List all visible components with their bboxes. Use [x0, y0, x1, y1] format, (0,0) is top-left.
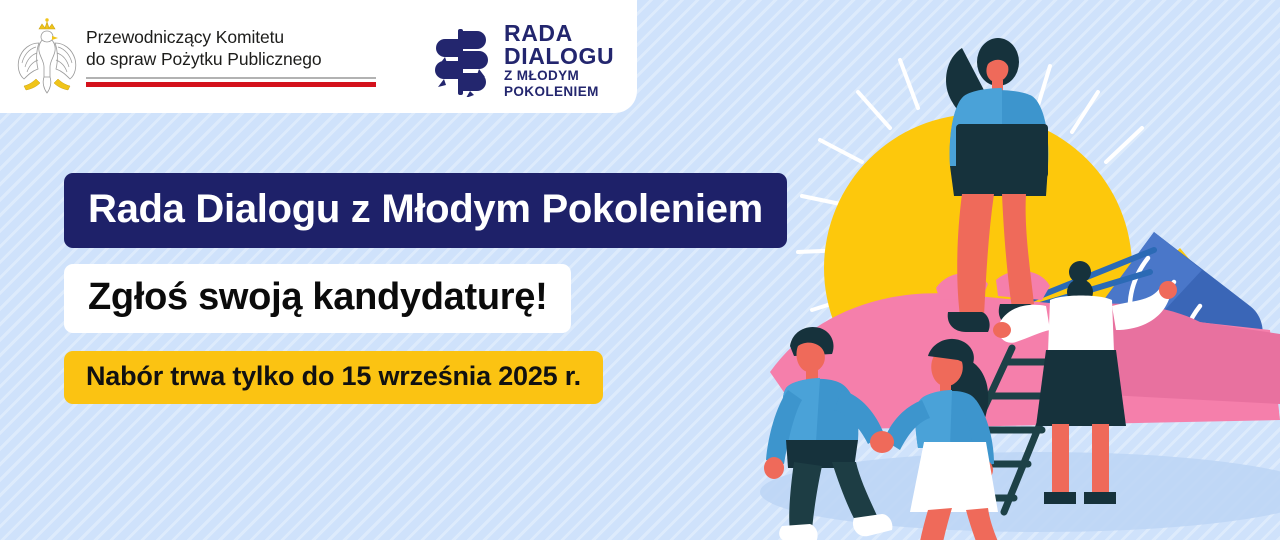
rada-dialogu-wordmark: RADA DIALOGU Z MŁODYM POKOLENIEM: [504, 22, 614, 100]
flag-rule-red: [86, 82, 376, 87]
rada-dialogu-logo: RADA DIALOGU Z MŁODYM POKOLENIEM: [428, 22, 614, 100]
gov-title-line-1: Przewodniczący Komitetu: [86, 26, 396, 48]
page-title: Rada Dialogu z Młodym Pokoleniem: [64, 173, 787, 248]
polish-flag-rule: [86, 77, 376, 87]
government-title-block: Przewodniczący Komitetu do spraw Pożytku…: [86, 26, 396, 87]
gov-title-line-2: do spraw Pożytku Publicznego: [86, 48, 396, 70]
speech-bubble-plant-icon: [428, 25, 494, 97]
call-to-action-text: Zgłoś swoją kandydaturę!: [64, 264, 571, 333]
flag-rule-grey: [86, 77, 376, 79]
header-plate: Przewodniczący Komitetu do spraw Pożytku…: [0, 0, 637, 113]
rada-logo-line-2: DIALOGU: [504, 45, 614, 68]
polish-eagle-emblem-icon: [14, 17, 80, 97]
rada-logo-line-3: Z MŁODYM: [504, 68, 614, 84]
rada-logo-line-1: RADA: [504, 22, 614, 45]
deadline-badge: Nabór trwa tylko do 15 września 2025 r.: [64, 351, 603, 404]
rada-logo-line-4: POKOLENIEM: [504, 84, 614, 100]
handshake-hands: [870, 431, 894, 453]
headline-stack: Rada Dialogu z Młodym Pokoleniem Zgłoś s…: [64, 173, 787, 404]
lightbulb-teamwork-illustration: [750, 0, 1280, 540]
promo-banner: Przewodniczący Komitetu do spraw Pożytku…: [0, 0, 1280, 540]
